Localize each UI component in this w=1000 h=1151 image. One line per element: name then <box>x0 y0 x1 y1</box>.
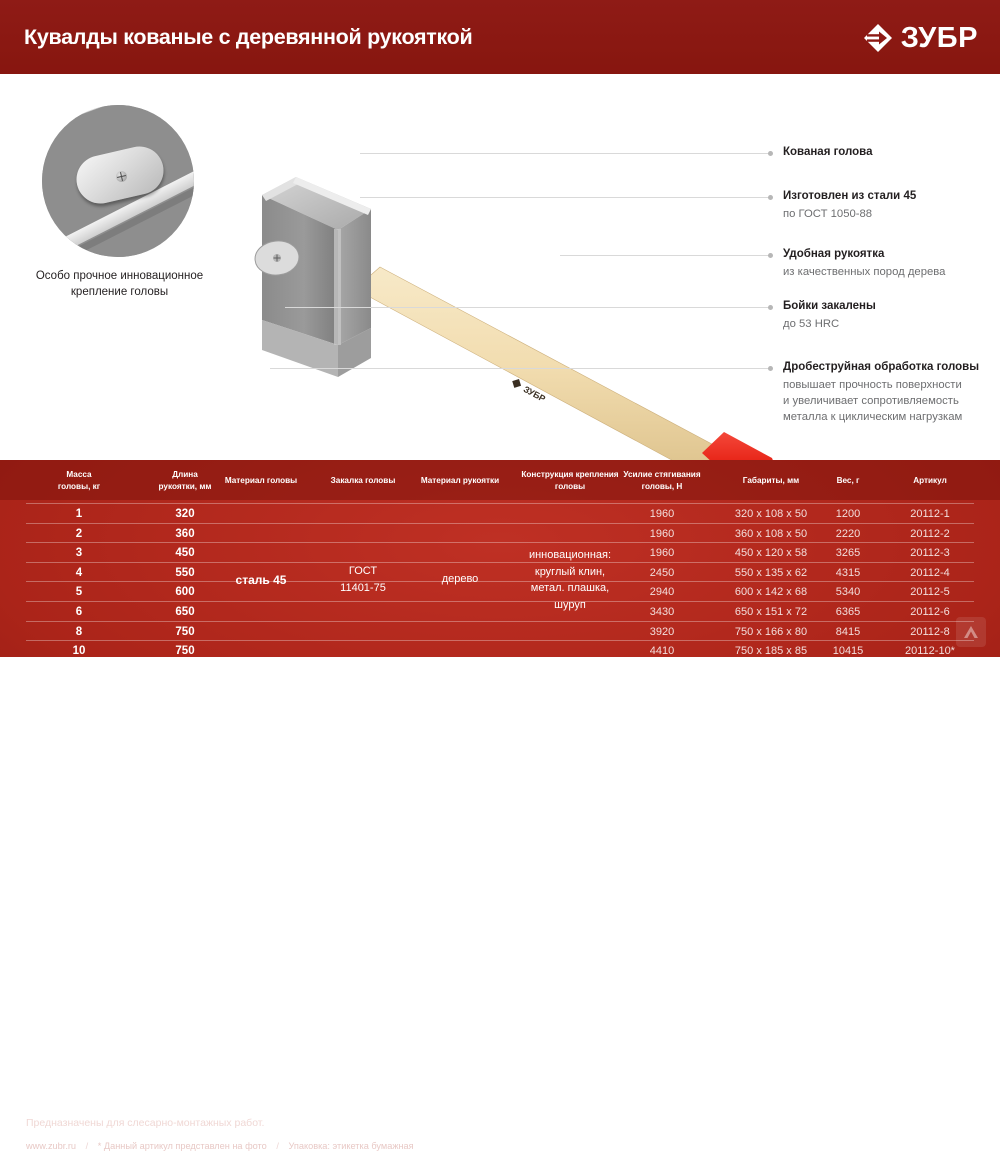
footer-meta: www.zubr.ru / * Данный артикул представл… <box>26 1141 414 1151</box>
callout-title: Изготовлен из стали 45 <box>783 189 998 205</box>
callout-title: Удобная рукоятка <box>783 247 998 263</box>
th-head-material: Материал головы <box>206 475 316 487</box>
cell-weight: 2220 <box>804 528 892 540</box>
callout-title: Дробеструйная обработка головы <box>783 360 998 376</box>
table-row-separator <box>26 601 974 602</box>
table-row-separator <box>26 581 974 582</box>
cell-length: 750 <box>132 645 238 657</box>
callout-sub: по ГОСТ 1050-88 <box>783 206 998 222</box>
callout-sub: до 53 HRC <box>783 316 998 332</box>
cell-sku: 20112-5 <box>880 586 980 598</box>
brand-name: ЗУБР <box>901 24 978 53</box>
table-row-separator <box>26 542 974 543</box>
cell-weight: 5340 <box>804 586 892 598</box>
illustration-stage: Особо прочное инновационное крепление го… <box>0 77 1000 460</box>
leader-line-4 <box>285 307 770 308</box>
callout-title: Кованая голова <box>783 145 998 161</box>
cell-mass: 1 <box>26 508 132 520</box>
footer-separator-2: / <box>269 1141 286 1151</box>
callout-steel-45: Изготовлен из стали 45 по ГОСТ 1050-88 <box>783 189 998 222</box>
cell-length: 650 <box>132 606 238 618</box>
cell-weight: 6365 <box>804 606 892 618</box>
leader-dot-2 <box>768 195 773 200</box>
table-row-separator <box>26 660 974 661</box>
cell-length: 320 <box>132 508 238 520</box>
callout-forged-head: Кованая голова <box>783 145 998 161</box>
cell-mass: 5 <box>26 586 132 598</box>
table-row-separator <box>26 523 974 524</box>
cell-mass: 2 <box>26 528 132 540</box>
footer-note: Предназначены для слесарно-монтажных раб… <box>26 1117 264 1129</box>
leader-dot-3 <box>768 253 773 258</box>
table-row-separator <box>26 562 974 563</box>
footer-site[interactable]: www.zubr.ru <box>26 1141 76 1151</box>
cell-length: 600 <box>132 586 238 598</box>
th-sku: Артикул <box>880 475 980 487</box>
table-row-separator <box>26 621 974 622</box>
cell-length: 550 <box>132 567 238 579</box>
cell-sku: 20112-3 <box>880 547 980 559</box>
cell-mass: 4 <box>26 567 132 579</box>
cell-mass: 6 <box>26 606 132 618</box>
cell-handle-material: дерево <box>400 571 520 588</box>
cell-mass: 3 <box>26 547 132 559</box>
leader-line-5 <box>270 368 770 369</box>
table-row-separator <box>26 640 974 641</box>
callout-shot-blasting: Дробеструйная обработка головы повышает … <box>783 360 998 425</box>
callout-title: Бойки закалены <box>783 299 998 315</box>
footer-sku-note: * Данный артикул представлен на фото <box>98 1141 267 1151</box>
leader-line-1 <box>360 153 770 154</box>
cell-length: 750 <box>132 626 238 638</box>
cell-length: 360 <box>132 528 238 540</box>
cell-sku: 20112-2 <box>880 528 980 540</box>
leader-line-2 <box>360 197 770 198</box>
table-row-separator <box>26 503 974 504</box>
callout-handle: Удобная рукоятка из качественных пород д… <box>783 247 998 280</box>
callout-sub: из качественных пород дерева <box>783 264 998 280</box>
footer-packaging: Упаковка: этикетка бумажная <box>288 1141 413 1151</box>
leader-dot-5 <box>768 366 773 371</box>
cell-weight: 8415 <box>804 626 892 638</box>
cell-length: 450 <box>132 547 238 559</box>
cell-weight: 4315 <box>804 567 892 579</box>
cell-weight: 3265 <box>804 547 892 559</box>
cell-mass: 10 <box>26 645 132 657</box>
cell-sku: 20112-1 <box>880 508 980 520</box>
th-weight: Вес, г <box>804 475 892 487</box>
leader-dot-4 <box>768 305 773 310</box>
callout-sub: повышает прочность поверхности и увеличи… <box>783 377 998 425</box>
specs-table: Масса головы, кг Длина рукоятки, мм Мате… <box>0 460 1000 657</box>
cell-sku: 20112-4 <box>880 567 980 579</box>
corner-watermark-icon <box>956 617 986 647</box>
footer-separator-1: / <box>79 1141 96 1151</box>
zubr-diamond-arrow-icon <box>862 22 894 54</box>
leader-dot-1 <box>768 151 773 156</box>
leader-line-3 <box>560 255 770 256</box>
callout-hardened-strikers: Бойки закалены до 53 HRC <box>783 299 998 332</box>
cell-mass: 8 <box>26 626 132 638</box>
cell-weight: 1200 <box>804 508 892 520</box>
page-title: Кувалды кованые с деревянной рукояткой <box>24 25 472 50</box>
cell-weight: 10415 <box>804 645 892 657</box>
th-handle-material: Материал рукоятки <box>400 475 520 487</box>
page-header: Кувалды кованые с деревянной рукояткой З… <box>0 0 1000 74</box>
brand-logo: ЗУБР <box>862 20 978 56</box>
th-mass: Масса головы, кг <box>26 469 132 493</box>
